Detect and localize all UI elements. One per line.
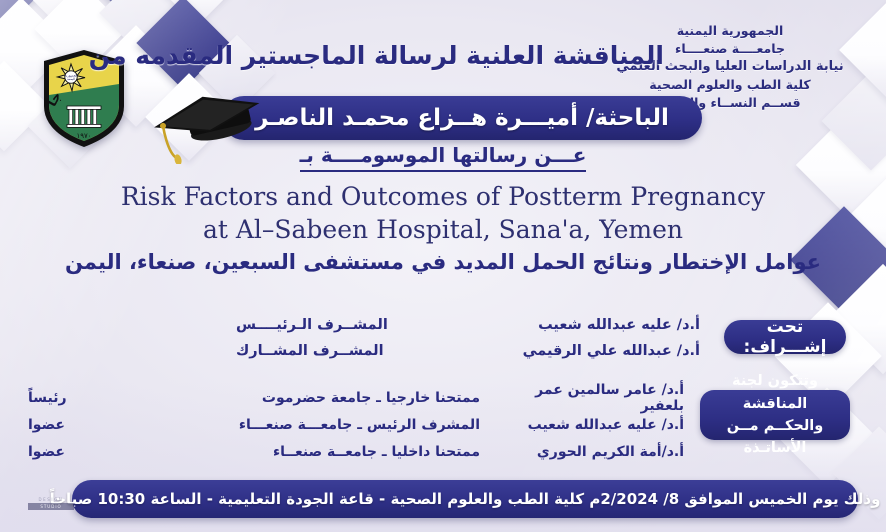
thesis-title-en-line2: at Al–Sabeen Hospital, Sana'a, Yemen bbox=[0, 213, 886, 246]
committee-member-affiliation: ممتحنا داخليا ـ جامعــة صنعــاء bbox=[82, 444, 506, 460]
researcher-banner: الباحثة/ أميـــرة هــزاع محمـد الناصـر bbox=[222, 96, 702, 140]
committee-list: أ.د/ عامر سالمين عمر بلعفير ممتحنا خارجي… bbox=[28, 384, 688, 465]
committee-member-role: رئيساً bbox=[28, 390, 82, 406]
thesis-intro-label: عـــن رسالتها الموسومــــة بـ bbox=[0, 143, 886, 167]
poster-canvas: الجمهورية اليمنية جامعة صنعاء ١٩٧٠ الجمه bbox=[0, 0, 886, 532]
supervision-badge-label: تحت إشـــراف: bbox=[724, 317, 846, 357]
table-row: أ.د/ عليه عبدالله شعيب المشرف الرئيس ـ ج… bbox=[28, 411, 688, 438]
thesis-title-english: Risk Factors and Outcomes of Postterm Pr… bbox=[0, 180, 886, 246]
logo-year: ١٩٧٠ bbox=[76, 132, 91, 140]
thesis-intro-text: عـــن رسالتها الموسومــــة بـ bbox=[300, 143, 587, 172]
committee-member-affiliation: ممتحنا خارجيا ـ جامعة حضرموت bbox=[82, 390, 506, 406]
supervisor-list: أ.د/ عليه عبدالله شعيب المشــرف الـرئيــ… bbox=[236, 312, 706, 364]
svg-text:اليمنية: اليمنية bbox=[67, 77, 75, 81]
supervisor-row: أ.د/ عبدالله علي الرقيمي المشــرف المشــ… bbox=[236, 338, 706, 364]
thesis-title-en-line1: Risk Factors and Outcomes of Postterm Pr… bbox=[0, 180, 886, 213]
supervisor-name: أ.د/ عبدالله علي الرقيمي bbox=[490, 343, 706, 359]
supervision-section: تحت إشـــراف: أ.د/ عليه عبدالله شعيب الم… bbox=[30, 312, 856, 372]
researcher-name: الباحثة/ أميـــرة هــزاع محمـد الناصـر bbox=[255, 105, 669, 131]
supervisor-role: المشــرف المشــارك bbox=[236, 343, 490, 359]
watermark-line1: DESIGN bbox=[28, 497, 74, 502]
committee-badge-line1: وتتكون لجنة المناقشة bbox=[700, 370, 850, 415]
event-details-text: وذلك يوم الخميس الموافق 8/ 2/2024م كلية … bbox=[50, 490, 881, 508]
committee-badge: وتتكون لجنة المناقشة والحكــم مــن الأسا… bbox=[700, 390, 850, 440]
org-line-faculty: كلية الطب والعلوم الصحية bbox=[600, 76, 860, 94]
committee-section: وتتكون لجنة المناقشة والحكــم مــن الأسا… bbox=[24, 384, 856, 476]
supervisor-row: أ.د/ عليه عبدالله شعيب المشــرف الـرئيــ… bbox=[236, 312, 706, 338]
org-line-country: الجمهورية اليمنية bbox=[600, 22, 860, 40]
watermark-line2: STUDIO bbox=[28, 503, 74, 510]
event-details-bar: وذلك يوم الخميس الموافق 8/ 2/2024م كلية … bbox=[72, 480, 858, 518]
designer-watermark: DESIGN STUDIO bbox=[28, 497, 74, 510]
committee-member-name: أ.د/ عليه عبدالله شعيب bbox=[506, 417, 688, 433]
table-row: أ.د/أمة الكريم الحوري ممتحنا داخليا ـ جا… bbox=[28, 438, 688, 465]
committee-member-role: عضوا bbox=[28, 444, 82, 460]
committee-badge-line2: والحكــم مــن الأساتـذة bbox=[700, 415, 850, 460]
committee-member-affiliation: المشرف الرئيس ـ جامعـــة صنعـــاء bbox=[82, 417, 506, 433]
committee-member-name: أ.د/ عامر سالمين عمر بلعفير bbox=[506, 382, 688, 414]
thesis-title-arabic: عوامل الإختطار ونتائج الحمل المديد في مس… bbox=[0, 250, 886, 274]
page-title: المناقشة العلنية لرسالة الماجستير المقدم… bbox=[234, 42, 664, 71]
committee-member-name: أ.د/أمة الكريم الحوري bbox=[506, 444, 688, 460]
supervision-badge: تحت إشـــراف: bbox=[724, 320, 846, 354]
supervisor-role: المشــرف الـرئيــــس bbox=[236, 317, 490, 333]
table-row: أ.د/ عامر سالمين عمر بلعفير ممتحنا خارجي… bbox=[28, 384, 688, 411]
supervisor-name: أ.د/ عليه عبدالله شعيب bbox=[490, 317, 706, 333]
committee-member-role: عضوا bbox=[28, 417, 82, 433]
